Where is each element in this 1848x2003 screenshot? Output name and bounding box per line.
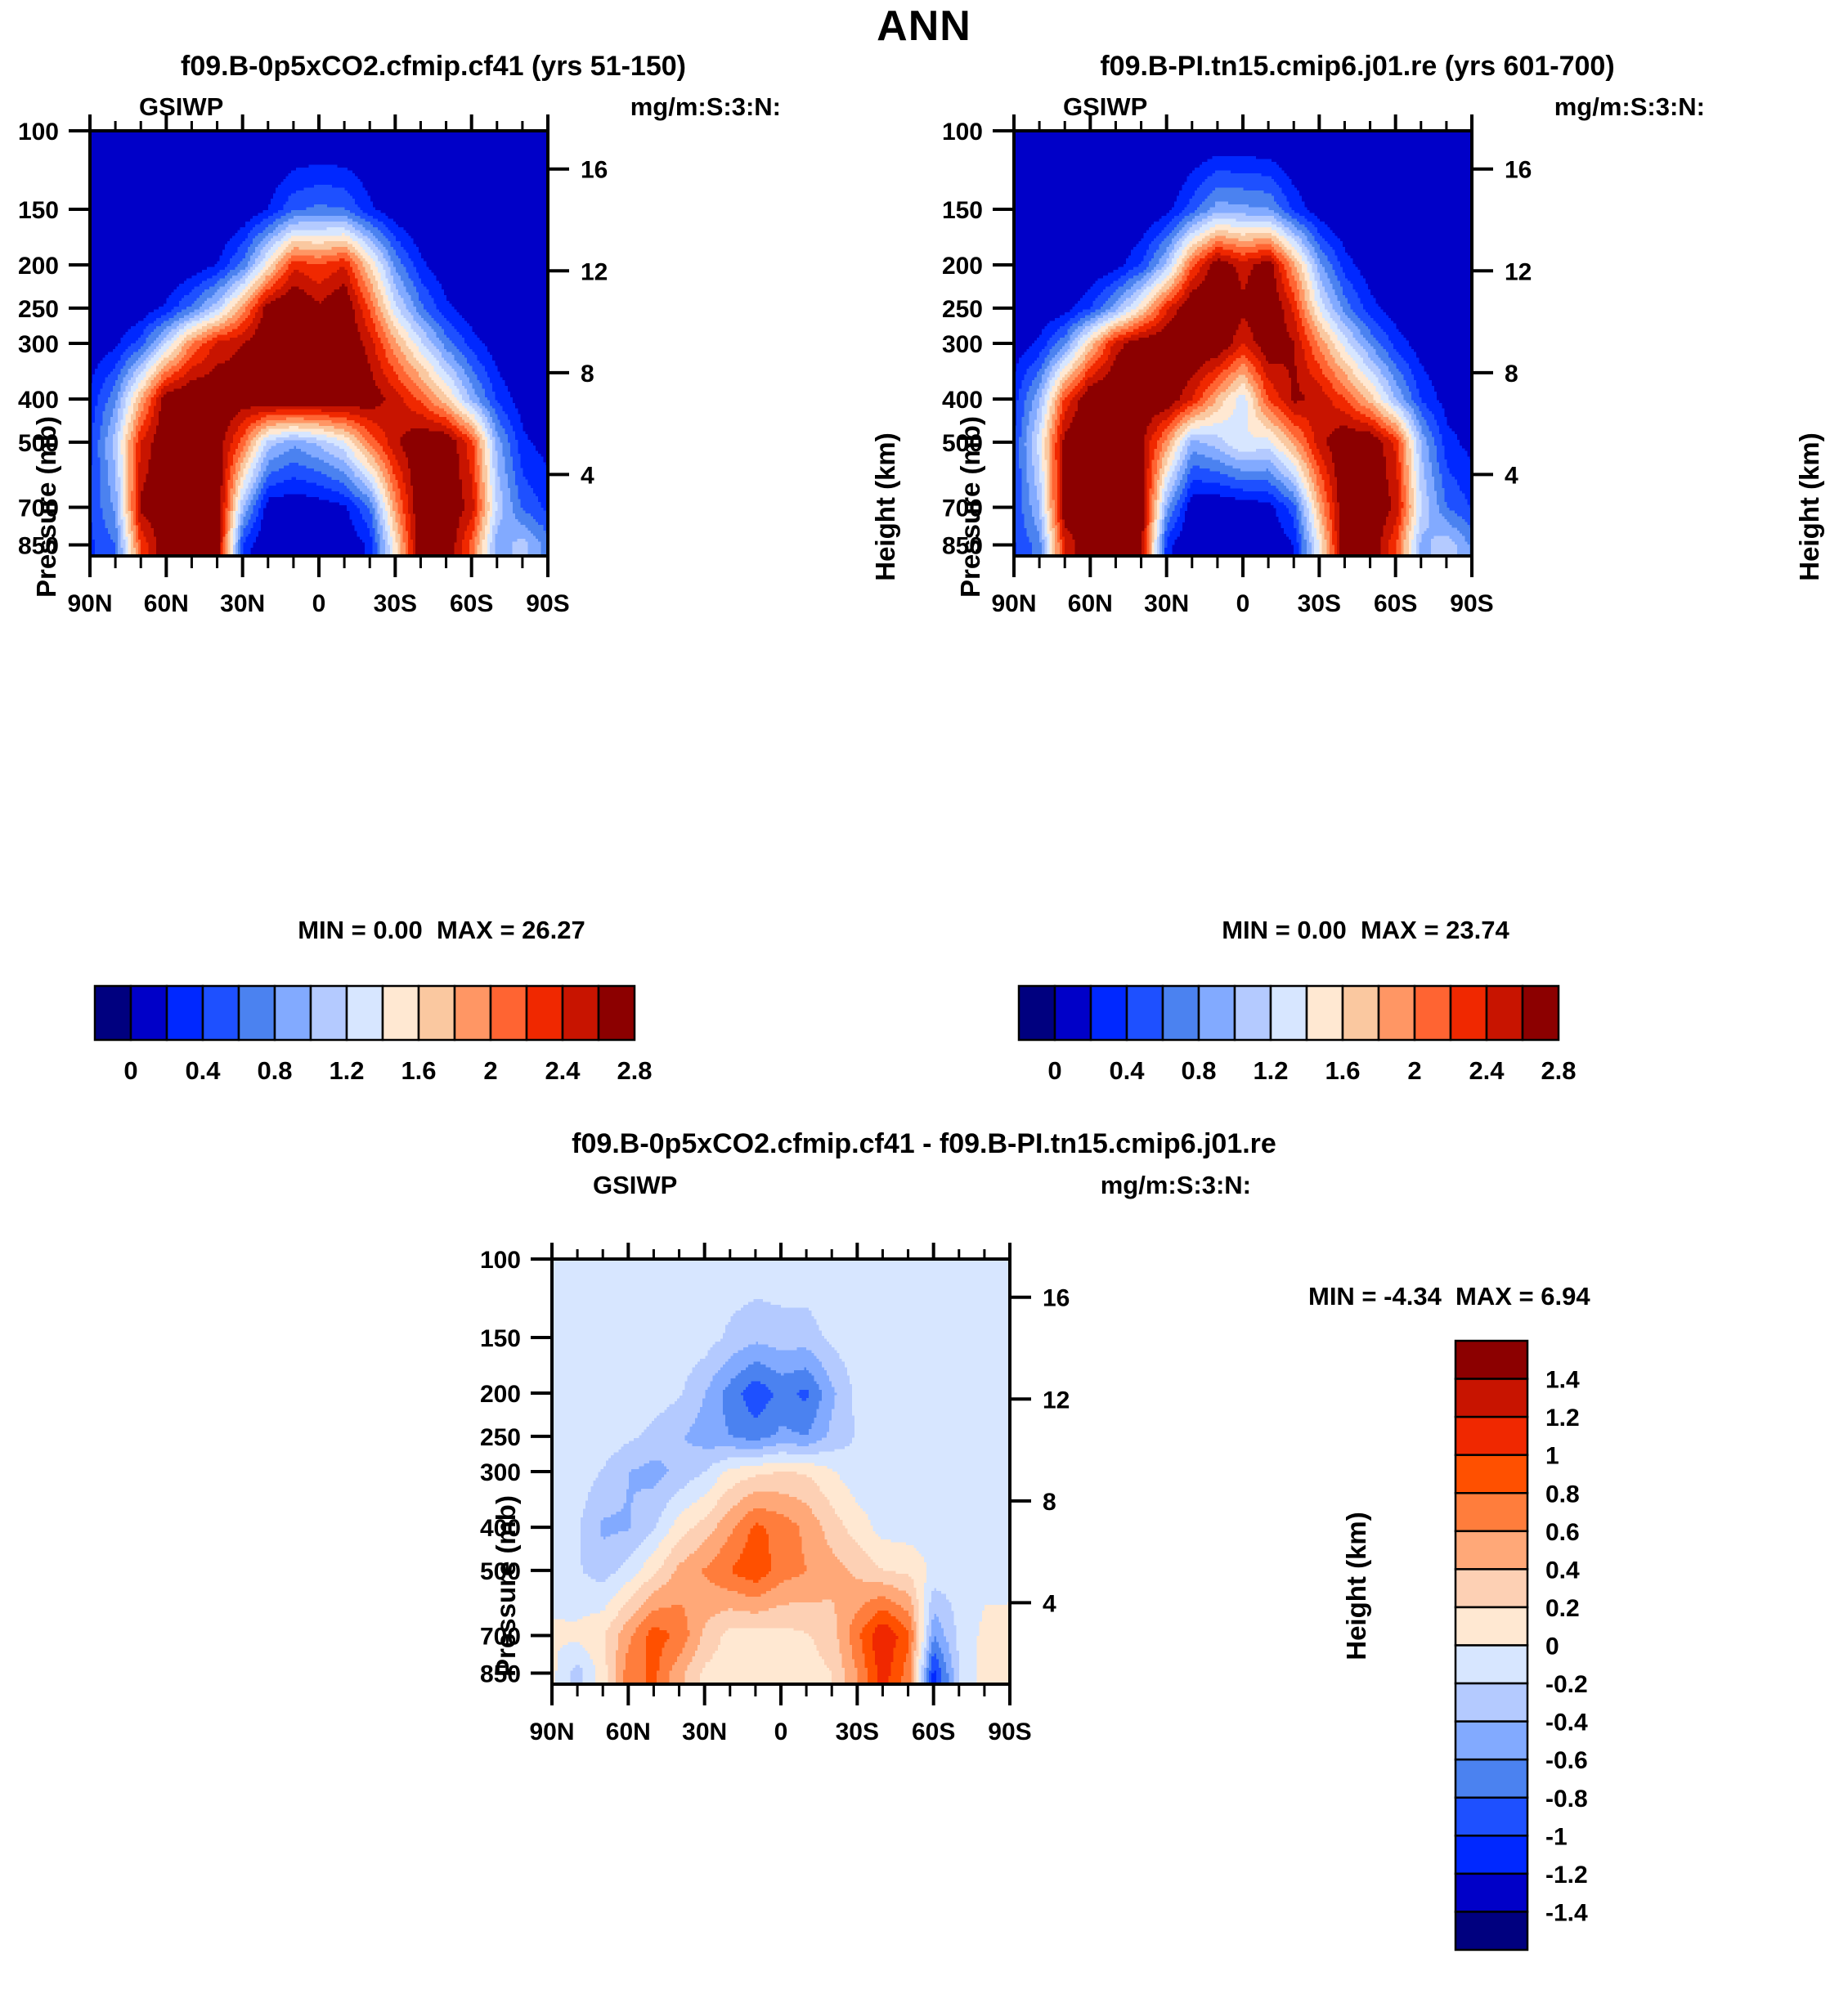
svg-text:150: 150	[942, 197, 983, 224]
svg-text:-0.6: -0.6	[1545, 1747, 1588, 1774]
panel-right-plot: 10015020025030040050070085016128490N60N3…	[924, 0, 1791, 907]
svg-text:2: 2	[1407, 1056, 1421, 1085]
svg-text:500: 500	[942, 430, 983, 457]
panel-left-min: MIN = 0.00	[298, 916, 423, 944]
svg-text:4: 4	[1505, 462, 1518, 489]
panel-right-minmax: MIN = 0.00 MAX = 23.74	[1222, 916, 1509, 945]
svg-text:200: 200	[480, 1381, 521, 1408]
svg-text:0.8: 0.8	[257, 1056, 292, 1085]
panel-left-plot: 10015020025030040050070085016128490N60N3…	[0, 0, 867, 907]
svg-text:400: 400	[18, 387, 59, 414]
svg-text:8: 8	[1043, 1489, 1056, 1516]
svg-text:0: 0	[1236, 590, 1250, 617]
svg-text:2.4: 2.4	[545, 1056, 581, 1085]
svg-text:100: 100	[480, 1247, 521, 1274]
svg-text:300: 300	[942, 331, 983, 358]
svg-text:250: 250	[480, 1424, 521, 1451]
svg-text:4: 4	[581, 462, 594, 489]
svg-text:16: 16	[1505, 157, 1532, 184]
svg-text:2: 2	[483, 1056, 497, 1085]
svg-text:90S: 90S	[526, 590, 569, 617]
svg-text:300: 300	[18, 331, 59, 358]
svg-text:90N: 90N	[529, 1718, 574, 1745]
svg-text:8: 8	[1505, 361, 1518, 388]
svg-text:1.4: 1.4	[1545, 1367, 1580, 1394]
svg-text:0: 0	[774, 1718, 788, 1745]
svg-text:60N: 60N	[1068, 590, 1113, 617]
svg-text:250: 250	[942, 296, 983, 323]
panel-diff-title: f09.B-0p5xCO2.cfmip.cf41 - f09.B-PI.tn15…	[572, 1128, 1276, 1160]
svg-text:100: 100	[18, 119, 59, 146]
panel-diff-max: MAX = 6.94	[1456, 1282, 1590, 1311]
svg-text:0.4: 0.4	[1545, 1557, 1580, 1584]
svg-text:-0.2: -0.2	[1545, 1671, 1588, 1698]
svg-text:1.6: 1.6	[401, 1056, 436, 1085]
svg-text:12: 12	[1043, 1387, 1070, 1414]
svg-text:0.8: 0.8	[1545, 1481, 1580, 1508]
svg-text:1.2: 1.2	[329, 1056, 364, 1085]
svg-text:2.8: 2.8	[1541, 1056, 1576, 1085]
svg-text:-1.2: -1.2	[1545, 1862, 1588, 1889]
svg-text:0.4: 0.4	[1109, 1056, 1145, 1085]
svg-text:850: 850	[480, 1660, 521, 1687]
svg-text:30N: 30N	[1144, 590, 1189, 617]
svg-text:850: 850	[18, 532, 59, 559]
svg-text:700: 700	[18, 495, 59, 522]
svg-text:90S: 90S	[988, 1718, 1031, 1745]
svg-text:60S: 60S	[1374, 590, 1417, 617]
svg-text:0.8: 0.8	[1181, 1056, 1216, 1085]
svg-text:100: 100	[942, 119, 983, 146]
svg-text:0.2: 0.2	[1545, 1595, 1580, 1622]
panel-right-min: MIN = 0.00	[1222, 916, 1347, 944]
svg-text:0.4: 0.4	[185, 1056, 221, 1085]
svg-text:30S: 30S	[1298, 590, 1341, 617]
svg-text:200: 200	[18, 253, 59, 280]
svg-text:30S: 30S	[836, 1718, 879, 1745]
svg-text:2.8: 2.8	[617, 1056, 652, 1085]
svg-text:500: 500	[480, 1558, 521, 1585]
svg-text:90N: 90N	[67, 590, 112, 617]
svg-text:1: 1	[1545, 1443, 1559, 1470]
panel-diff-plot: 10015020025030040050070085016128490N60N3…	[458, 1185, 1374, 2003]
svg-text:30N: 30N	[220, 590, 265, 617]
svg-text:16: 16	[1043, 1285, 1070, 1312]
svg-text:60N: 60N	[606, 1718, 651, 1745]
svg-text:400: 400	[480, 1515, 521, 1542]
panel-right-max: MAX = 23.74	[1361, 916, 1509, 944]
svg-text:60S: 60S	[450, 590, 493, 617]
svg-text:0: 0	[1047, 1056, 1061, 1085]
svg-text:12: 12	[1505, 258, 1532, 285]
svg-text:0: 0	[1545, 1633, 1559, 1660]
figure-root: ANN f09.B-0p5xCO2.cfmip.cf41 (yrs 51-150…	[0, 0, 1848, 1975]
svg-text:1.6: 1.6	[1325, 1056, 1360, 1085]
svg-text:-1.4: -1.4	[1545, 1899, 1588, 1926]
panel-left-height-axis-title: Height (km)	[870, 432, 901, 581]
svg-text:12: 12	[581, 258, 608, 285]
svg-text:2.4: 2.4	[1469, 1056, 1505, 1085]
colorbar-left: 00.40.81.21.622.42.8	[82, 973, 654, 1104]
svg-text:16: 16	[581, 157, 608, 184]
svg-text:-1: -1	[1545, 1823, 1568, 1850]
svg-text:200: 200	[942, 253, 983, 280]
svg-text:0: 0	[123, 1056, 137, 1085]
svg-text:4: 4	[1043, 1590, 1056, 1617]
panel-left-max: MAX = 26.27	[437, 916, 585, 944]
svg-text:-0.4: -0.4	[1545, 1709, 1588, 1736]
svg-text:300: 300	[480, 1459, 521, 1486]
svg-text:30N: 30N	[682, 1718, 727, 1745]
svg-text:150: 150	[480, 1325, 521, 1352]
svg-text:8: 8	[581, 361, 594, 388]
panel-left-minmax: MIN = 0.00 MAX = 26.27	[298, 916, 585, 945]
svg-text:60S: 60S	[912, 1718, 955, 1745]
colorbar-diff: 1.41.210.80.60.40.20-0.2-0.4-0.6-0.8-1-1…	[1447, 1333, 1676, 1987]
svg-text:60N: 60N	[144, 590, 189, 617]
panel-right-height-axis-title: Height (km)	[1794, 432, 1825, 581]
svg-text:500: 500	[18, 430, 59, 457]
svg-text:700: 700	[942, 495, 983, 522]
svg-text:90S: 90S	[1450, 590, 1493, 617]
colorbar-right: 00.40.81.21.622.42.8	[1006, 973, 1578, 1104]
svg-text:250: 250	[18, 296, 59, 323]
svg-text:700: 700	[480, 1624, 521, 1651]
svg-text:0: 0	[312, 590, 326, 617]
svg-text:0.6: 0.6	[1545, 1519, 1580, 1546]
svg-text:850: 850	[942, 532, 983, 559]
svg-text:90N: 90N	[991, 590, 1036, 617]
svg-text:400: 400	[942, 387, 983, 414]
svg-text:30S: 30S	[374, 590, 417, 617]
svg-text:1.2: 1.2	[1545, 1405, 1580, 1432]
svg-text:150: 150	[18, 197, 59, 224]
svg-text:-0.8: -0.8	[1545, 1786, 1588, 1813]
svg-text:1.2: 1.2	[1253, 1056, 1288, 1085]
